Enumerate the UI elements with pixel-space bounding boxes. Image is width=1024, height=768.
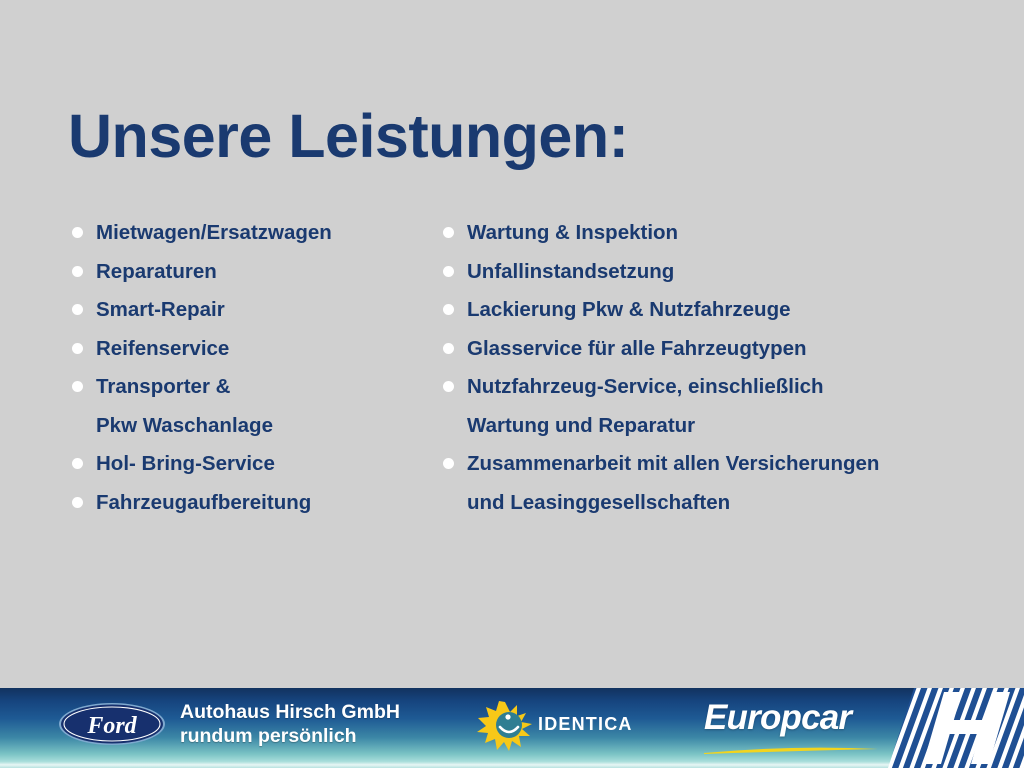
bullet-icon [72, 497, 83, 508]
europcar-swoosh-icon [702, 742, 880, 751]
list-item-label: Nutzfahrzeug-Service, einschließlich [467, 368, 1001, 407]
list-item-label: Transporter & [96, 368, 430, 407]
bullet-icon [443, 266, 454, 277]
list-item-label-continuation: und Leasinggesellschaften [467, 484, 1001, 523]
list-item: Unfallinstandsetzung [441, 253, 1001, 292]
identica-wordmark: IDENTICA [538, 714, 633, 735]
list-item-label: Wartung & Inspektion [467, 214, 1001, 253]
list-item-label-continuation: Pkw Waschanlage [96, 407, 430, 446]
slide-canvas: Unsere Leistungen: Mietwagen/Ersatzwagen… [0, 0, 1024, 768]
bullet-icon [72, 458, 83, 469]
list-item: Mietwagen/Ersatzwagen [70, 214, 430, 253]
bullet-icon [72, 381, 83, 392]
list-item-label: Reparaturen [96, 253, 430, 292]
list-item: Fahrzeugaufbereitung [70, 484, 430, 523]
list-item-label: Zusammenarbeit mit allen Versicherungen [467, 445, 1001, 484]
bullet-icon [443, 458, 454, 469]
europcar-logo: Europcar [700, 698, 890, 750]
bullet-icon [72, 266, 83, 277]
identica-logo: IDENTICA [476, 700, 656, 752]
list-item-label-continuation: Wartung und Reparatur [467, 407, 1001, 446]
list-item-label: Reifenservice [96, 330, 430, 369]
list-item-label: Hol- Bring-Service [96, 445, 430, 484]
dealer-name-line1: Autohaus Hirsch GmbH [180, 700, 400, 724]
bullet-icon [443, 304, 454, 315]
ford-logo-icon: Ford [58, 702, 166, 746]
list-item: Reifenservice [70, 330, 430, 369]
list-item: Glasservice für alle Fahrzeugtypen [441, 330, 1001, 369]
list-item: Transporter & Pkw Waschanlage [70, 368, 430, 445]
dealer-name-line2: rundum persönlich [180, 724, 400, 748]
bullet-icon [443, 227, 454, 238]
list-item: Zusammenarbeit mit allen Versicherungen … [441, 445, 1001, 522]
bullet-icon [72, 343, 83, 354]
services-right-column: Wartung & Inspektion Unfallinstandsetzun… [441, 214, 1001, 522]
svg-text:Ford: Ford [86, 713, 137, 739]
europcar-wordmark: Europcar [704, 698, 851, 738]
list-item-label: Lackierung Pkw & Nutzfahrzeuge [467, 291, 1001, 330]
list-item: Lackierung Pkw & Nutzfahrzeuge [441, 291, 1001, 330]
list-item-label: Mietwagen/Ersatzwagen [96, 214, 430, 253]
list-item: Reparaturen [70, 253, 430, 292]
bullet-icon [443, 343, 454, 354]
list-item-label: Glasservice für alle Fahrzeugtypen [467, 330, 1001, 369]
list-item: Smart-Repair [70, 291, 430, 330]
list-item-label: Smart-Repair [96, 291, 430, 330]
list-item-label: Unfallinstandsetzung [467, 253, 1001, 292]
identica-sunburst-icon [476, 700, 534, 752]
footer-partner-bar: Ford Autohaus Hirsch GmbH rundum persönl… [0, 688, 1024, 768]
dealer-name: Autohaus Hirsch GmbH rundum persönlich [180, 700, 400, 748]
list-item: Hol- Bring-Service [70, 445, 430, 484]
list-item: Wartung & Inspektion [441, 214, 1001, 253]
services-left-column: Mietwagen/Ersatzwagen Reparaturen Smart-… [70, 214, 430, 522]
hirsch-h-emblem-icon [888, 688, 1024, 768]
page-title: Unsere Leistungen: [68, 104, 628, 168]
bullet-icon [443, 381, 454, 392]
list-item: Nutzfahrzeug-Service, einschließlich War… [441, 368, 1001, 445]
bullet-icon [72, 304, 83, 315]
bullet-icon [72, 227, 83, 238]
list-item-label: Fahrzeugaufbereitung [96, 484, 430, 523]
